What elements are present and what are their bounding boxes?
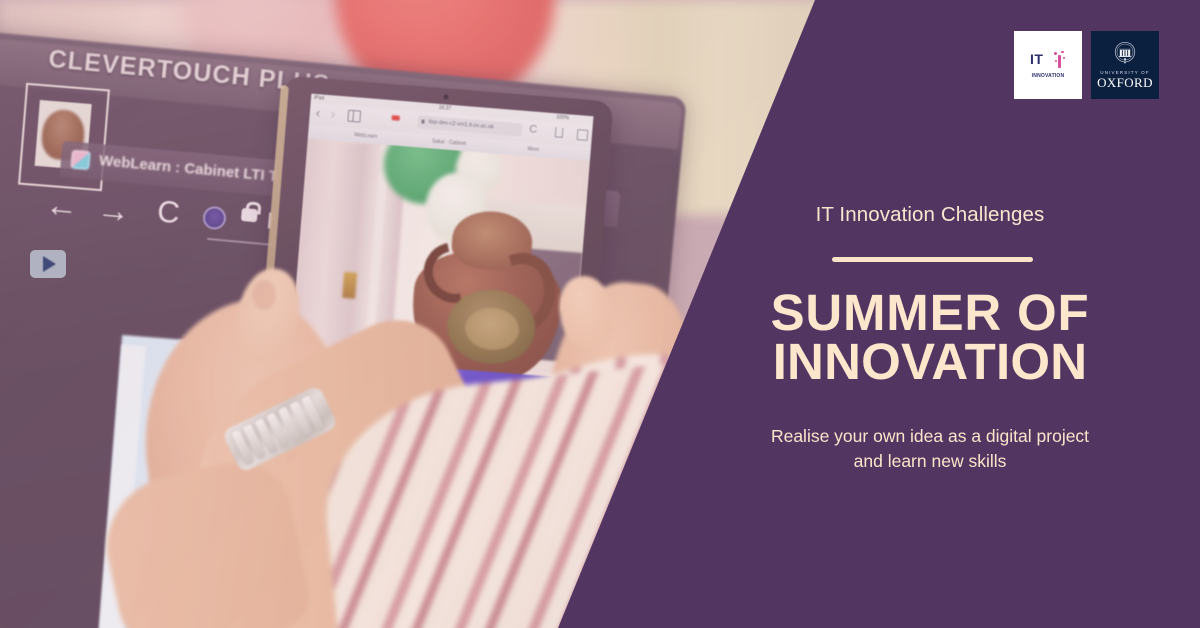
headline-line-1: SUMMER OF <box>690 288 1170 337</box>
exhibit-label <box>342 272 357 299</box>
play-icon <box>43 256 56 272</box>
it-innovation-mark: IT <box>1025 52 1071 72</box>
bookmark-item-weblearn: WebLearn <box>354 132 377 140</box>
lock-icon <box>421 120 424 124</box>
university-of-oxford-logo: UNIVERSITY OF OXFORD <box>1091 31 1159 99</box>
weblearn-favicon-icon <box>70 150 91 171</box>
it-innovation-wordmark: INNOVATION <box>1032 73 1065 79</box>
oxford-crest-icon <box>1112 41 1138 67</box>
subtitle-line-2: and learn new skills <box>700 449 1160 474</box>
oxford-wordmark: OXFORD <box>1097 76 1153 90</box>
page-title: SUMMER OF INNOVATION <box>690 288 1170 387</box>
sparkle-icon <box>1054 51 1065 68</box>
shield-icon <box>202 205 227 230</box>
eyebrow-text: IT Innovation Challenges <box>700 203 1160 227</box>
bookmark-item-more: More <box>527 146 539 153</box>
logo-group: IT INNOVATION <box>1014 31 1159 99</box>
bookmarks-icon <box>347 110 361 123</box>
headline-line-2: INNOVATION <box>690 337 1170 386</box>
back-chevron-icon: ‹ <box>315 105 321 120</box>
subtitle-text: Realise your own idea as a digital proje… <box>700 424 1160 474</box>
reload-icon: C <box>156 193 182 231</box>
subtitle-line-1: Realise your own idea as a digital proje… <box>700 424 1160 449</box>
share-icon <box>555 127 564 138</box>
tablet-address-bar: itsp-dev-c2-vm1.it.ox.ac.uk <box>417 115 523 136</box>
summer-of-innovation-banner: CLEVERTOUCH PLUS WebLearn : Cabinet LTI … <box>0 0 1200 628</box>
forward-chevron-icon: › <box>330 106 336 121</box>
back-arrow-icon: ← <box>44 185 80 226</box>
status-bar-clock: 16:37 <box>438 105 451 112</box>
forward-arrow-icon: → <box>96 190 132 231</box>
status-bar-device-label: iPad <box>314 95 324 102</box>
it-innovation-logo: IT INNOVATION <box>1014 31 1082 99</box>
it-innovation-letters: IT <box>1030 52 1043 66</box>
tabs-icon <box>577 129 589 141</box>
reload-icon: C <box>529 123 538 136</box>
bookmark-item-sakai: Sakai · Cabinet <box>432 138 467 147</box>
status-bar-battery: 100% <box>556 114 569 121</box>
tablet-address-bar-url: itsp-dev-c2-vm1.it.ox.ac.uk <box>428 119 494 130</box>
divider-rule <box>832 257 1033 262</box>
tablet-camera-icon <box>443 94 448 99</box>
record-indicator-icon <box>392 115 400 121</box>
left-thumb-nail <box>252 280 276 310</box>
lock-icon <box>241 208 258 222</box>
